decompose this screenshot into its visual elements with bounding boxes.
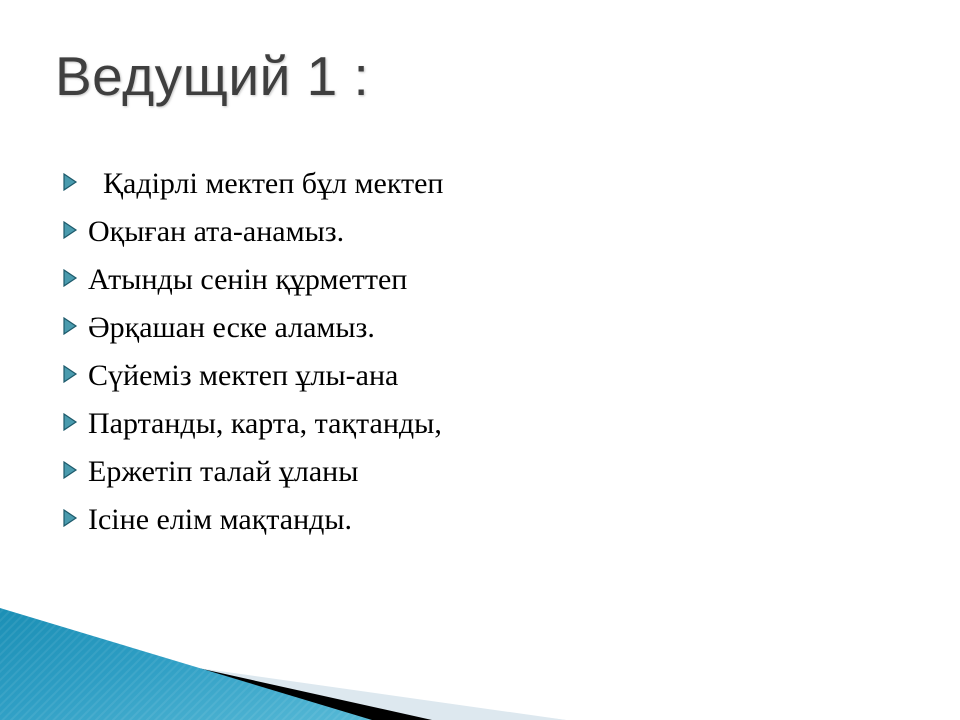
list-item: Атынды сенін құрметтеп (62, 258, 922, 306)
triangle-bullet-icon (62, 402, 88, 431)
triangle-bullet-icon (62, 450, 88, 479)
list-item-label: Партанды, карта, тақтанды, (88, 402, 922, 446)
list-item: Ісіне елім мақтанды. (62, 498, 922, 546)
triangle-bullet-icon (62, 210, 88, 239)
list-item: Қадірлі мектеп бұл мектеп (62, 162, 922, 210)
list-item-label: Ісіне елім мақтанды. (88, 498, 922, 542)
teal-triangle-shape (0, 608, 372, 720)
list-item-label: Оқыған ата-анамыз. (88, 210, 922, 254)
list-item: Оқыған ата-анамыз. (62, 210, 922, 258)
list-item: Ержетіп талай ұланы (62, 450, 922, 498)
pale-stripe-shape (0, 648, 566, 720)
list-item: Әрқашан еске аламыз. (62, 306, 922, 354)
pale-stripe-fill (0, 640, 566, 720)
triangle-bullet-icon (62, 498, 88, 527)
triangle-bullet-icon (62, 162, 88, 191)
triangle-bullet-icon (62, 354, 88, 383)
bullet-list: Қадірлі мектеп бұл мектеп Оқыған ата-ана… (62, 162, 922, 546)
page-title: Ведущий 1 : (55, 44, 915, 108)
black-stripe-shape (0, 624, 432, 720)
list-item-label: Қадірлі мектеп бұл мектеп (88, 162, 922, 206)
list-item: Партанды, карта, тақтанды, (62, 402, 922, 450)
triangle-bullet-icon (62, 306, 88, 335)
list-item: Сүйеміз мектеп ұлы-ана (62, 354, 922, 402)
list-item-label: Ержетіп талай ұланы (88, 450, 922, 494)
list-item-label: Әрқашан еске аламыз. (88, 306, 922, 350)
presentation-slide: Ведущий 1 : Қадірлі мектеп бұл мектеп Оқ… (0, 0, 960, 720)
list-item-label: Сүйеміз мектеп ұлы-ана (88, 354, 922, 398)
list-item-label: Атынды сенін құрметтеп (88, 258, 922, 302)
teal-triangle-texture (0, 608, 372, 720)
triangle-bullet-icon (62, 258, 88, 287)
